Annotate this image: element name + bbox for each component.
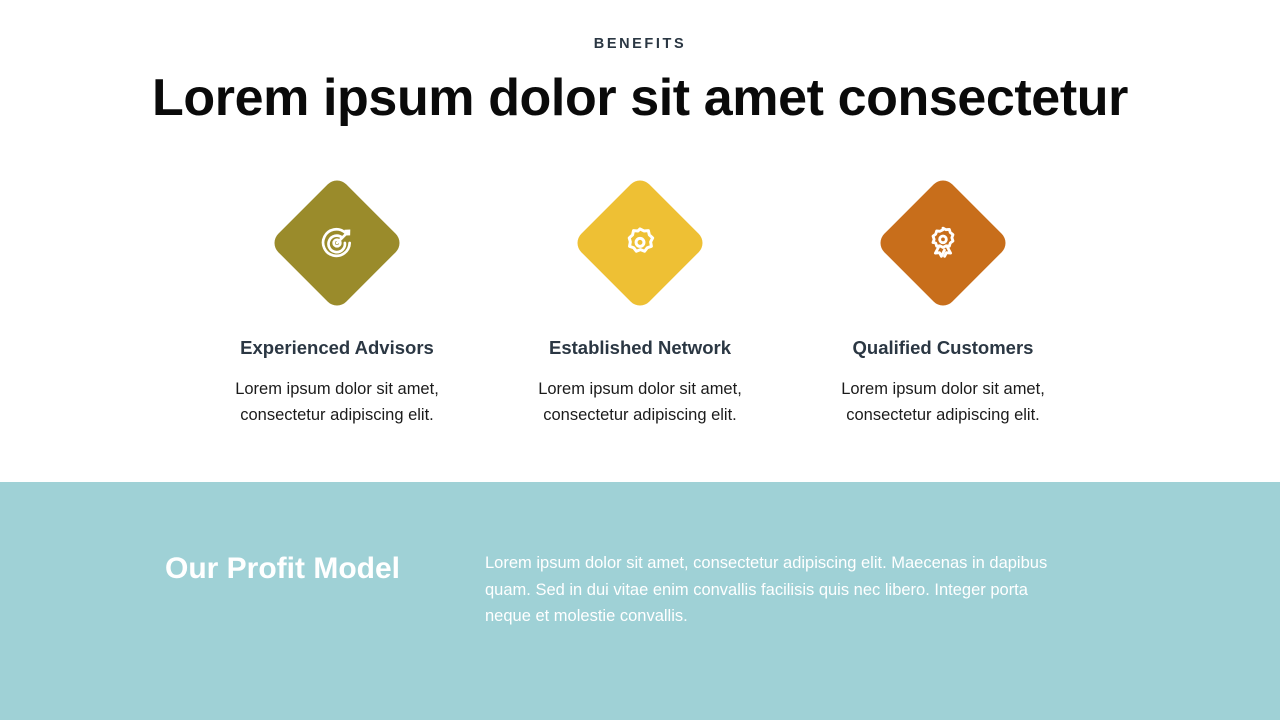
feature-card-qualified-customers: Qualified Customers Lorem ipsum dolor si…: [792, 175, 1095, 428]
award-badge-icon: [924, 224, 962, 262]
feature-title: Qualified Customers: [853, 337, 1034, 359]
diamond-wrap-2: [572, 175, 708, 311]
features-row: Experienced Advisors Lorem ipsum dolor s…: [0, 175, 1280, 428]
diamond-wrap-1: [269, 175, 405, 311]
slide-root: BENEFITS Lorem ipsum dolor sit amet cons…: [0, 0, 1280, 720]
profit-model-band: Our Profit Model Lorem ipsum dolor sit a…: [0, 482, 1280, 720]
feature-card-established-network: Established Network Lorem ipsum dolor si…: [489, 175, 792, 428]
diamond-shape-3: [875, 175, 1011, 311]
feature-body: Lorem ipsum dolor sit amet, consectetur …: [836, 377, 1051, 428]
feature-title: Experienced Advisors: [240, 337, 434, 359]
band-body: Lorem ipsum dolor sit amet, consectetur …: [485, 550, 1051, 630]
feature-body: Lorem ipsum dolor sit amet, consectetur …: [533, 377, 748, 428]
diamond-shape-2: [572, 175, 708, 311]
diamond-shape-1: [269, 175, 405, 311]
band-title: Our Profit Model: [0, 550, 400, 588]
feature-body: Lorem ipsum dolor sit amet, consectetur …: [230, 377, 445, 428]
band-content: Our Profit Model Lorem ipsum dolor sit a…: [0, 550, 1280, 630]
page-title: Lorem ipsum dolor sit amet consectetur: [0, 69, 1280, 127]
target-icon: [318, 224, 356, 262]
feature-title: Established Network: [549, 337, 731, 359]
slide-header: BENEFITS Lorem ipsum dolor sit amet cons…: [0, 0, 1280, 128]
diamond-wrap-3: [875, 175, 1011, 311]
eyebrow-label: BENEFITS: [0, 36, 1280, 53]
feature-card-experienced-advisors: Experienced Advisors Lorem ipsum dolor s…: [186, 175, 489, 428]
gear-icon: [621, 224, 659, 262]
